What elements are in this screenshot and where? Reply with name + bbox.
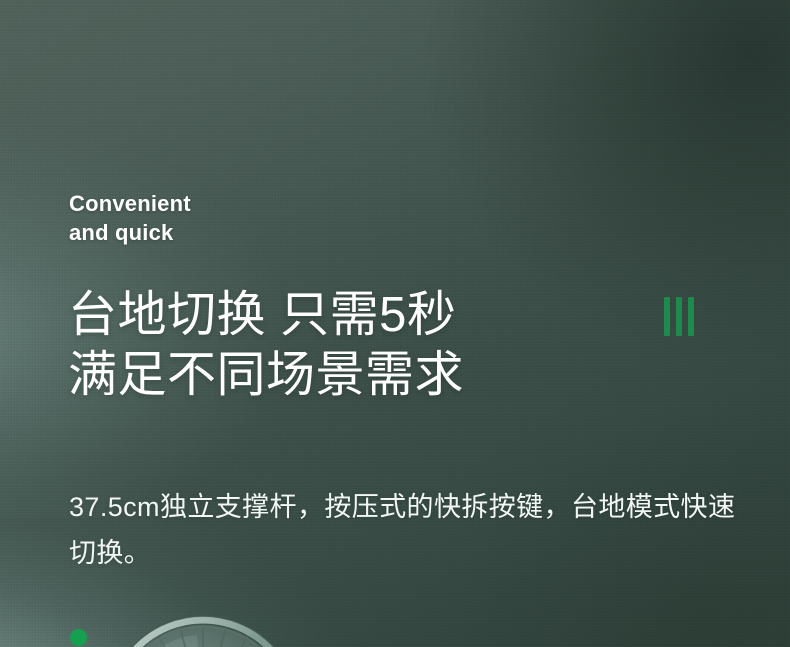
accent-bars (664, 297, 694, 336)
accent-bar-3 (688, 297, 694, 336)
accent-bar-2 (676, 297, 682, 336)
eyebrow-text: Convenient and quick (69, 189, 191, 247)
body-text: 37.5cm独立支撑杆，按压式的快拆按键，台地模式快速切换。 (69, 484, 749, 576)
bullet-dot-icon (70, 629, 87, 646)
product-banner: Convenient and quick 台地切换 只需5秒 满足不同场景需求 … (0, 0, 790, 647)
headline-text: 台地切换 只需5秒 满足不同场景需求 (68, 285, 464, 405)
accent-bar-1 (664, 297, 670, 336)
